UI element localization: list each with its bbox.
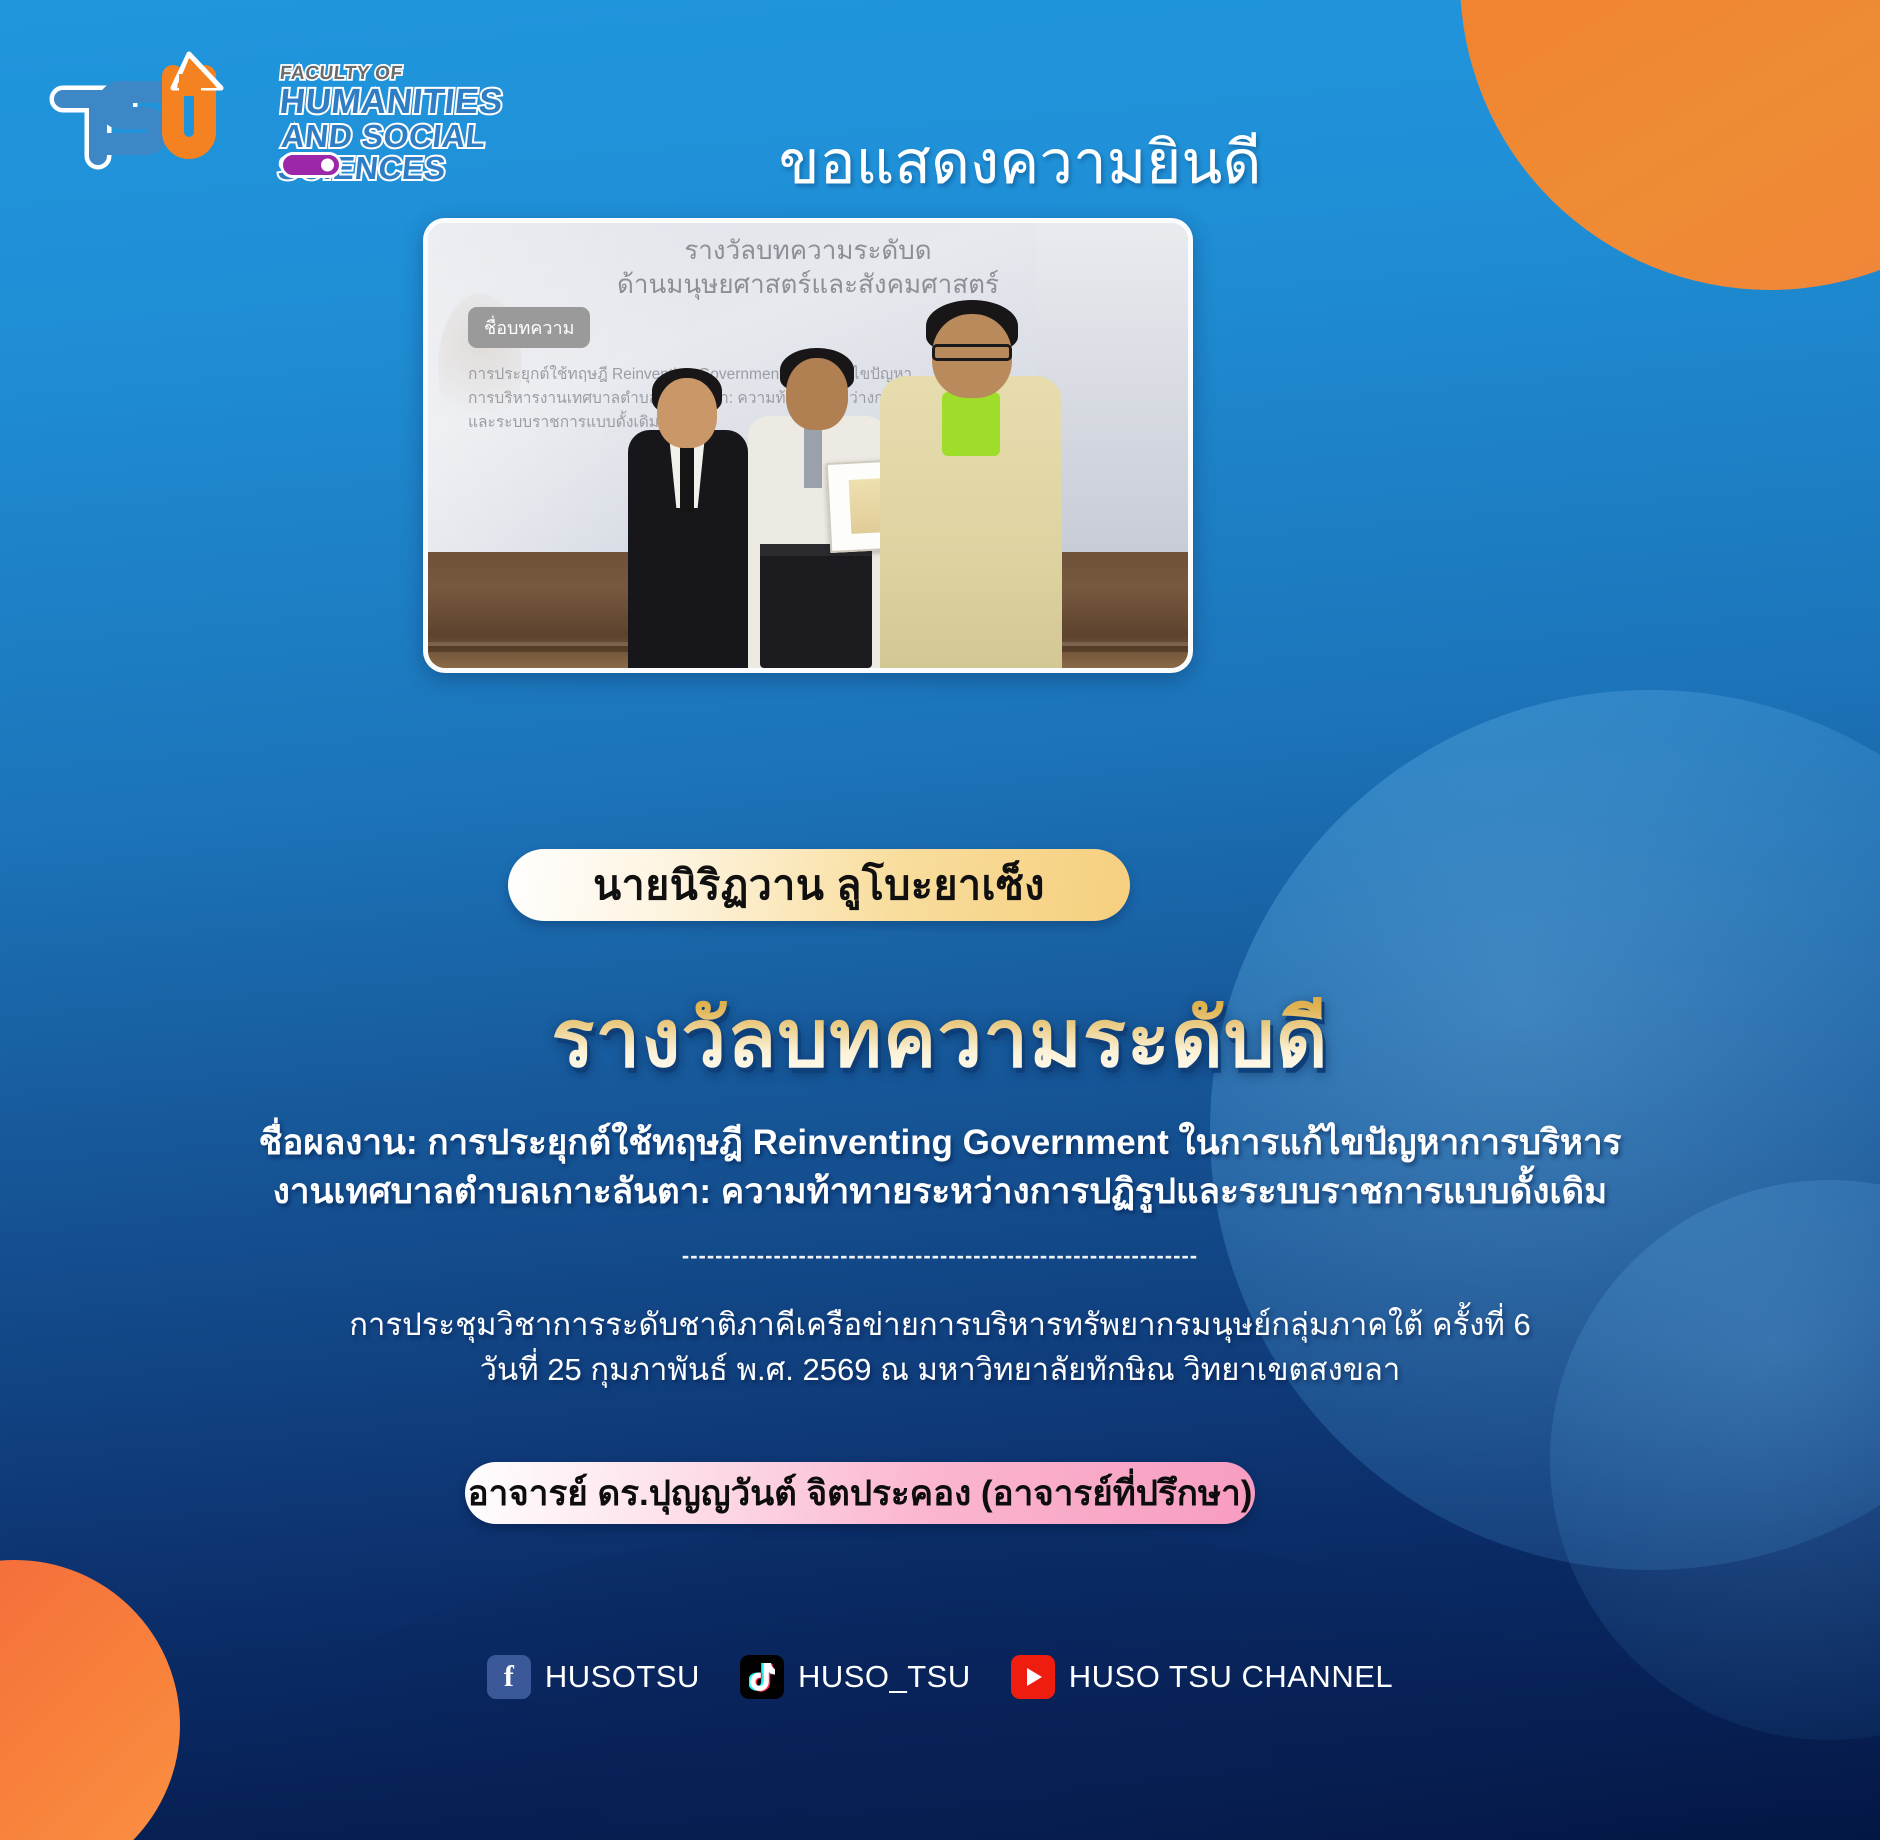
section-divider: ----------------------------------------… <box>0 1243 1880 1269</box>
conference-name: การประชุมวิชาการระดับชาติภาคีเครือข่ายกา… <box>80 1303 1800 1348</box>
photo-slide-tag: ชื่อบทความ <box>468 307 590 348</box>
photo-person-right-glasses-icon <box>932 344 1012 361</box>
recipient-name-badge: นายนิริฏวาน ลูโบะยาเซ็ง <box>508 849 1130 921</box>
social-youtube-label: HUSO TSU CHANNEL <box>1069 1659 1393 1695</box>
photo-slide-title-line1: รางวัลบทความระดับด <box>428 233 1188 267</box>
paper-title-line1: ชื่อผลงาน: การประยุกต์ใช้ทฤษฎี Reinventi… <box>70 1118 1810 1167</box>
photo-person-right-shirt <box>942 392 1000 456</box>
decor-circle-orange-bottom-left <box>0 1560 180 1840</box>
page-title: ขอแสดงความยินดี <box>0 115 1880 210</box>
play-triangle-icon <box>1027 1668 1042 1686</box>
photo-person-center-trousers <box>760 550 872 668</box>
advisor-name: อาจารย์ ดร.ปุญญวันต์ จิตประคอง (อาจารย์ท… <box>468 1466 1253 1521</box>
photo-slide-title: รางวัลบทความระดับด ด้านมนุษยศาสตร์และสัง… <box>428 233 1188 302</box>
tiktok-icon[interactable] <box>740 1655 784 1699</box>
social-tiktok[interactable]: HUSO_TSU <box>740 1655 971 1699</box>
social-youtube[interactable]: HUSO TSU CHANNEL <box>1011 1655 1393 1699</box>
advisor-badge: อาจารย์ ดร.ปุญญวันต์ จิตประคอง (อาจารย์ท… <box>465 1462 1255 1524</box>
footer-socials: f HUSOTSU HUSO_TSU HUSO TSU CHANNEL <box>0 1655 1880 1699</box>
social-facebook-label: HUSOTSU <box>545 1659 700 1695</box>
paper-title-line2: งานเทศบาลตำบลเกาะลันตา: ความท้าทายระหว่า… <box>70 1167 1810 1216</box>
conference-date-venue: วันที่ 25 กุมภาพันธ์ พ.ศ. 2569 ณ มหาวิทย… <box>80 1348 1800 1393</box>
social-facebook[interactable]: f HUSOTSU <box>487 1655 700 1699</box>
recipient-name: นายนิริฏวาน ลูโบะยาเซ็ง <box>593 853 1045 918</box>
award-photo: รางวัลบทความระดับด ด้านมนุษยศาสตร์และสัง… <box>423 218 1193 673</box>
photo-person-left <box>624 368 752 668</box>
photo-person-center-awardee <box>744 348 890 668</box>
photo-person-center-head <box>786 358 848 430</box>
award-title: รางวัลบทความระดับดี <box>0 975 1880 1102</box>
conference-details: การประชุมวิชาการระดับชาติภาคีเครือข่ายกา… <box>80 1303 1800 1393</box>
youtube-icon[interactable] <box>1011 1655 1055 1699</box>
photo-person-right <box>880 300 1062 668</box>
tiktok-glyph <box>749 1662 775 1692</box>
photo-person-left-head <box>657 378 717 448</box>
photo-slide-title-line2: ด้านมนุษยศาสตร์และสังคมศาสตร์ <box>428 267 1188 301</box>
social-tiktok-label: HUSO_TSU <box>798 1659 971 1695</box>
logo-faculty-line: FACULTY OF <box>279 64 546 83</box>
facebook-icon[interactable]: f <box>487 1655 531 1699</box>
paper-title: ชื่อผลงาน: การประยุกต์ใช้ทฤษฎี Reinventi… <box>70 1118 1810 1216</box>
logo-name-line1: HUMANITIES <box>278 84 547 119</box>
